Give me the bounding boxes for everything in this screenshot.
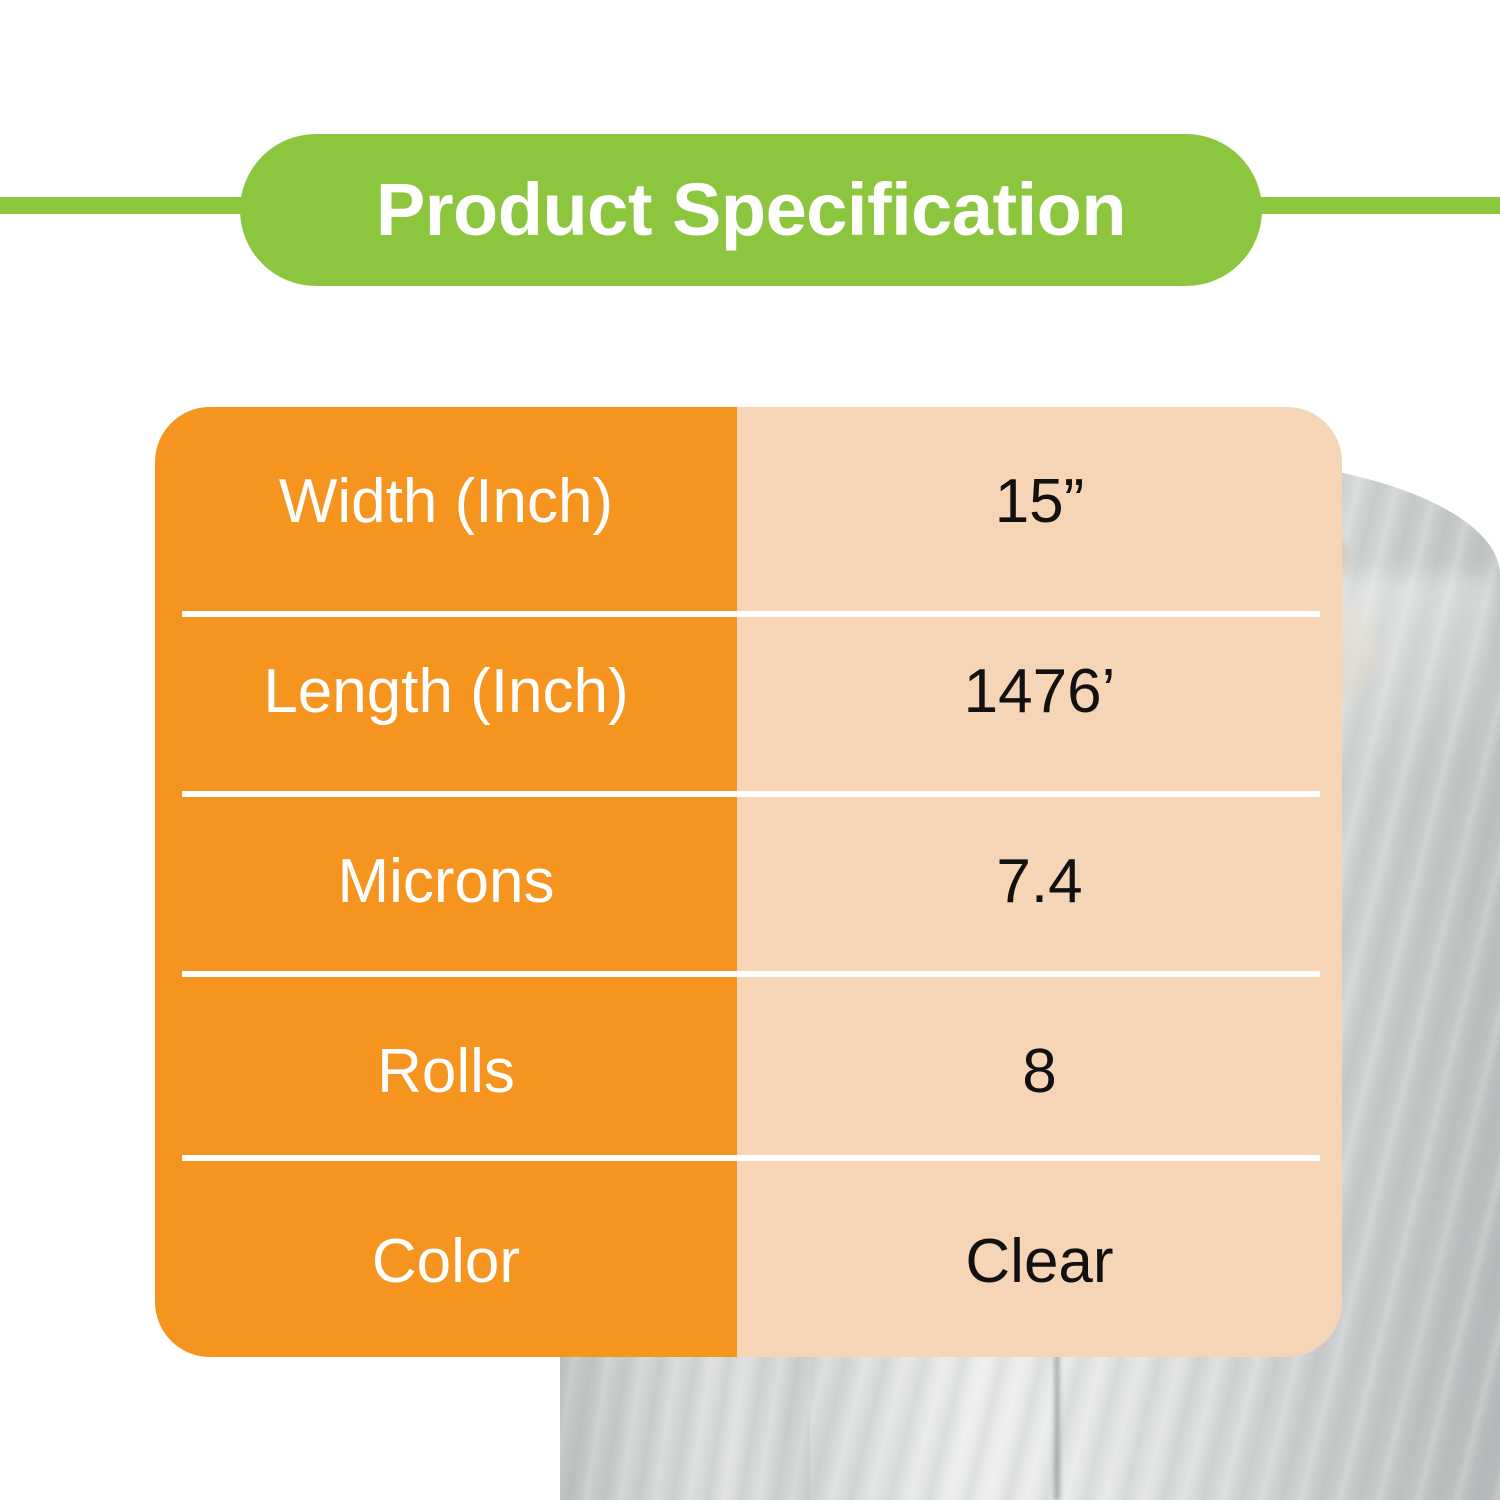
table-row: 8: [737, 977, 1342, 1167]
row-divider: [182, 791, 1320, 797]
table-row: Rolls: [155, 977, 737, 1167]
spec-value-column: 15” 1476’ 7.4 8 Clear: [737, 407, 1342, 1357]
page-title: Product Specification: [376, 173, 1126, 247]
table-row: 7.4: [737, 787, 1342, 977]
spec-label: Color: [372, 1229, 520, 1294]
product-specification-graphic: Product Specification Width (Inch) Lengt…: [0, 0, 1500, 1500]
spec-value: 8: [1022, 1039, 1056, 1104]
spec-value: 15”: [995, 469, 1085, 534]
table-row: Length (Inch): [155, 597, 737, 787]
banner-rule-left: [0, 197, 260, 214]
row-divider: [182, 1155, 1320, 1161]
spec-label: Width (Inch): [279, 469, 613, 534]
row-divider: [182, 611, 1320, 617]
table-row: Color: [155, 1167, 737, 1357]
spec-label: Microns: [337, 849, 554, 914]
table-row: 1476’: [737, 597, 1342, 787]
row-divider: [182, 971, 1320, 977]
banner-rule-right: [1240, 197, 1500, 214]
spec-value: Clear: [965, 1229, 1113, 1294]
spec-label-column: Width (Inch) Length (Inch) Microns Rolls…: [155, 407, 737, 1357]
header-banner: Product Specification: [240, 134, 1262, 286]
table-row: Clear: [737, 1167, 1342, 1357]
spec-value: 1476’: [964, 659, 1116, 724]
table-row: Microns: [155, 787, 737, 977]
spec-label: Length (Inch): [263, 659, 628, 724]
spec-value: 7.4: [996, 849, 1082, 914]
spec-label: Rolls: [377, 1039, 515, 1104]
table-row: 15”: [737, 407, 1342, 597]
table-row: Width (Inch): [155, 407, 737, 597]
spec-table: Width (Inch) Length (Inch) Microns Rolls…: [155, 407, 1342, 1357]
